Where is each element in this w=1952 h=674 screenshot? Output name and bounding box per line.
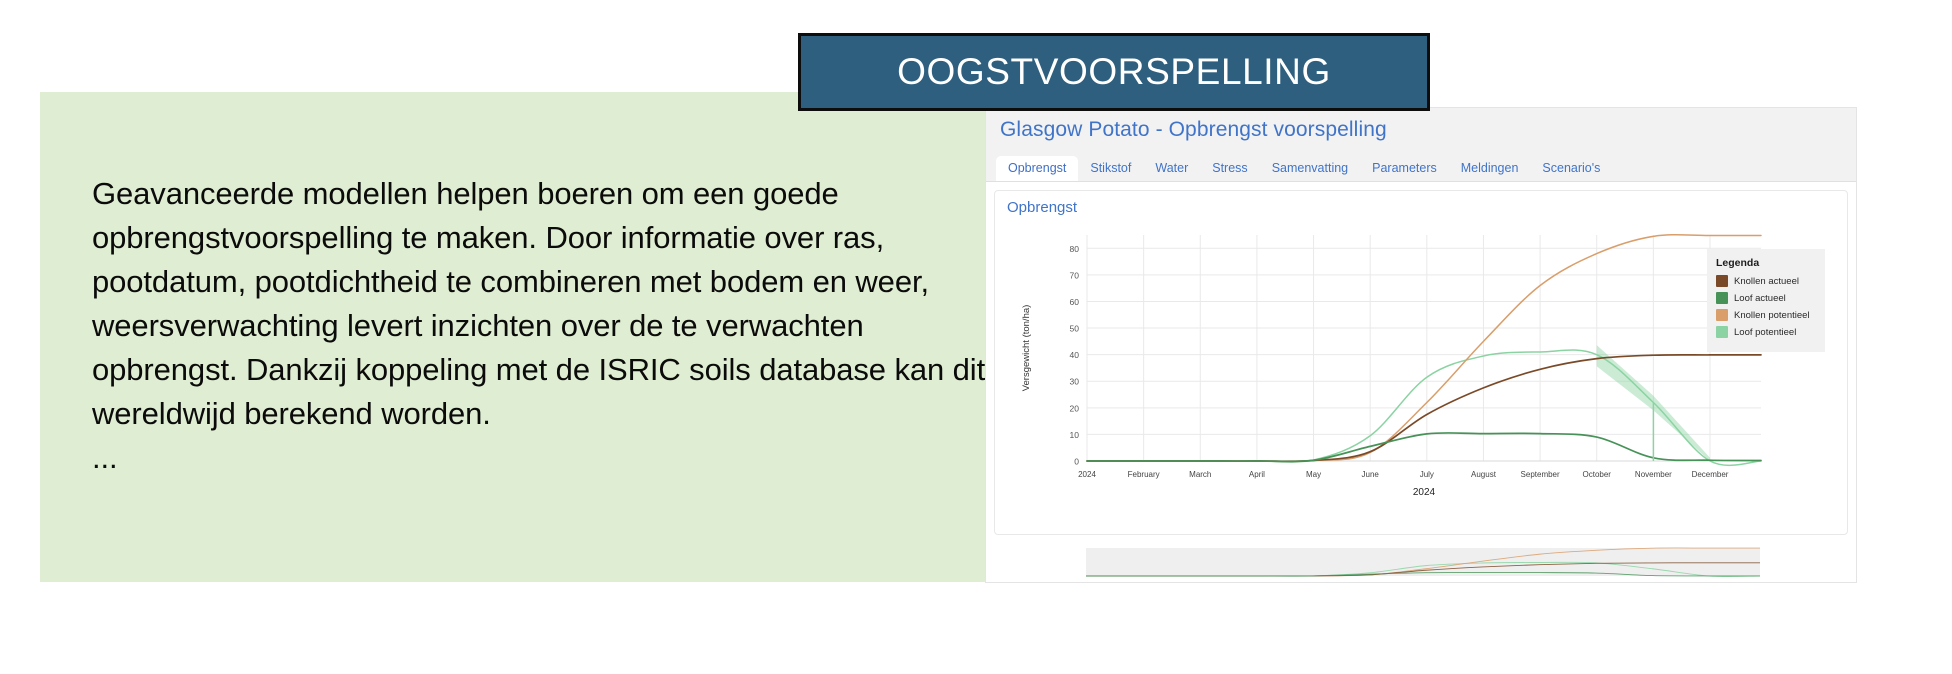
- body-text-block: Geavanceerde modellen helpen boeren om e…: [92, 172, 1012, 480]
- svg-text:40: 40: [1070, 350, 1080, 360]
- chart-card: Opbrengst 01020304050607080Versgewicht (…: [994, 190, 1848, 535]
- tab-meldingen[interactable]: Meldingen: [1449, 156, 1531, 182]
- svg-text:July: July: [1420, 470, 1434, 479]
- legend-swatch-icon: [1716, 309, 1728, 321]
- legend-item-knollen-potentieel: Knollen potentieel: [1716, 309, 1816, 321]
- chart-legend: Legenda Knollen actueel Loof actueel Kno…: [1707, 249, 1825, 352]
- svg-text:80: 80: [1070, 244, 1080, 254]
- legend-label: Knollen potentieel: [1734, 310, 1810, 321]
- svg-text:May: May: [1306, 470, 1321, 479]
- legend-item-knollen-actueel: Knollen actueel: [1716, 275, 1816, 287]
- svg-text:2024: 2024: [1078, 470, 1096, 479]
- svg-text:March: March: [1189, 470, 1211, 479]
- svg-text:April: April: [1249, 470, 1265, 479]
- svg-text:September: September: [1521, 470, 1560, 479]
- legend-item-loof-potentieel: Loof potentieel: [1716, 326, 1816, 338]
- content-panel: Geavanceerde modellen helpen boeren om e…: [40, 92, 985, 582]
- tab-scenarios[interactable]: Scenario's: [1530, 156, 1612, 182]
- app-title: Glasgow Potato - Opbrengst voorspelling: [1000, 118, 1387, 142]
- body-continuation: ...: [92, 436, 1012, 480]
- svg-text:60: 60: [1070, 297, 1080, 307]
- legend-label: Loof potentieel: [1734, 327, 1796, 338]
- svg-text:February: February: [1128, 470, 1160, 479]
- svg-text:0: 0: [1074, 457, 1079, 467]
- slide-title-banner: OOGSTVOORSPELLING: [798, 33, 1430, 111]
- legend-title: Legenda: [1716, 257, 1816, 269]
- svg-text:30: 30: [1070, 377, 1080, 387]
- legend-label: Knollen actueel: [1734, 276, 1799, 287]
- chart-range-selector[interactable]: [994, 542, 1848, 582]
- series-line: [1087, 235, 1761, 461]
- tab-stress[interactable]: Stress: [1200, 156, 1259, 182]
- svg-text:70: 70: [1070, 270, 1080, 280]
- svg-text:December: December: [1692, 470, 1729, 479]
- svg-text:20: 20: [1070, 403, 1080, 413]
- tab-samenvatting[interactable]: Samenvatting: [1260, 156, 1360, 182]
- legend-swatch-icon: [1716, 275, 1728, 287]
- svg-text:Versgewicht (ton/ha): Versgewicht (ton/ha): [1021, 305, 1032, 392]
- svg-text:June: June: [1362, 470, 1380, 479]
- tab-parameters[interactable]: Parameters: [1360, 156, 1449, 182]
- svg-text:10: 10: [1070, 430, 1080, 440]
- svg-text:2024: 2024: [1413, 487, 1436, 498]
- tab-stikstof[interactable]: Stikstof: [1078, 156, 1143, 182]
- series-line: [1087, 433, 1761, 462]
- range-selector-mini-chart[interactable]: [994, 542, 1848, 582]
- body-paragraph: Geavanceerde modellen helpen boeren om e…: [92, 172, 1012, 436]
- chart-caption: Opbrengst: [1007, 199, 1077, 216]
- legend-item-loof-actueel: Loof actueel: [1716, 292, 1816, 304]
- tab-water[interactable]: Water: [1143, 156, 1200, 182]
- app-tabbar[interactable]: Opbrengst Stikstof Water Stress Samenvat…: [986, 152, 1856, 182]
- legend-swatch-icon: [1716, 292, 1728, 304]
- app-header: Glasgow Potato - Opbrengst voorspelling: [986, 108, 1856, 152]
- svg-text:August: August: [1471, 470, 1497, 479]
- tab-opbrengst[interactable]: Opbrengst: [996, 156, 1078, 182]
- svg-text:50: 50: [1070, 324, 1080, 334]
- page-title: OOGSTVOORSPELLING: [897, 51, 1331, 93]
- svg-text:November: November: [1635, 470, 1672, 479]
- app-screenshot-panel: Glasgow Potato - Opbrengst voorspelling …: [986, 108, 1856, 582]
- legend-label: Loof actueel: [1734, 293, 1786, 304]
- svg-text:October: October: [1583, 470, 1612, 479]
- legend-swatch-icon: [1716, 326, 1728, 338]
